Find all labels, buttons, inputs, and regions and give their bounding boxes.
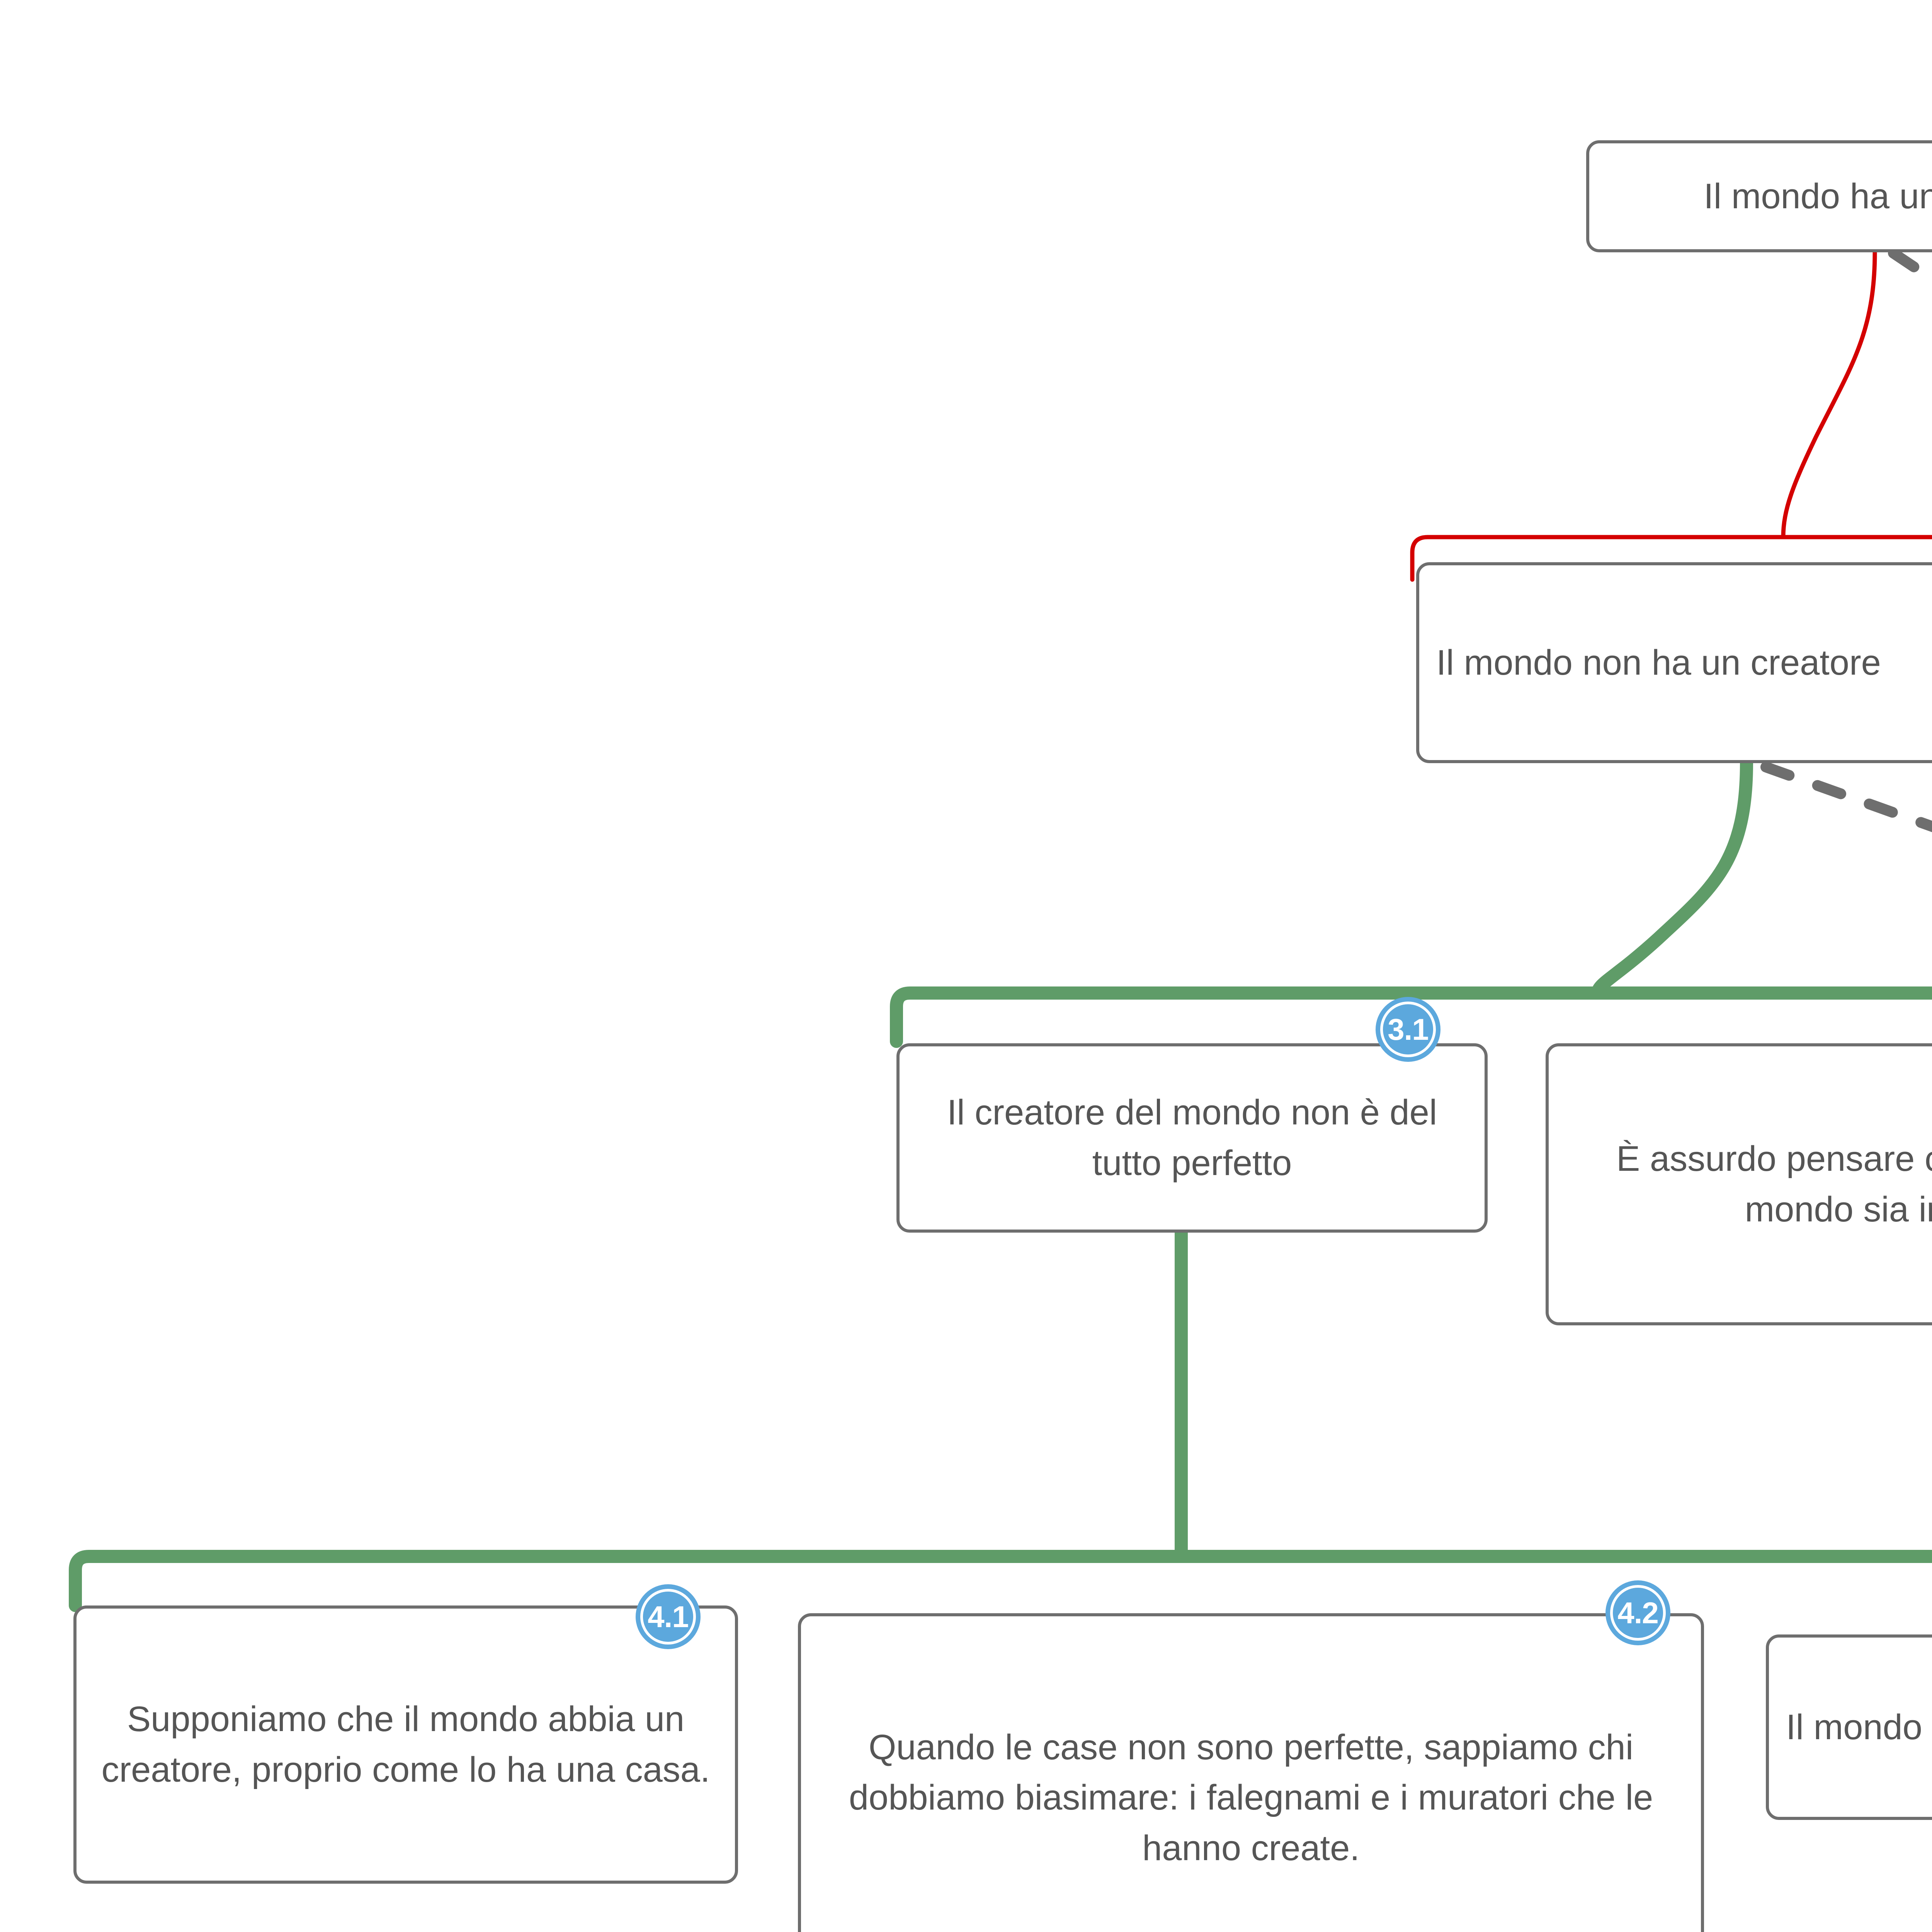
connector-role-link-antitesi: [1893, 253, 1932, 500]
node-2-1-text: Il mondo non ha un creatore: [1419, 638, 1932, 688]
node-4-3-text: Il mondo non è perfetto: [1769, 1702, 1932, 1753]
node-badge-4-2-label: 4.2: [1617, 1598, 1658, 1628]
node-badge-4-2[interactable]: 4.2: [1605, 1580, 1670, 1645]
connector-objection-1-1-to-2-1: [1783, 252, 1875, 537]
node-badge-4-1[interactable]: 4.1: [636, 1584, 701, 1649]
node-4-2[interactable]: Quando le case non sono perfette, sappia…: [798, 1613, 1704, 1932]
node-badge-3-1-label: 3.1: [1388, 1014, 1428, 1044]
node-badge-4-1-label: 4.1: [648, 1602, 688, 1632]
node-3-1-text: Il creatore del mondo non è del tutto pe…: [900, 1087, 1485, 1188]
connector-role-link-tesi: [1766, 767, 1932, 1005]
node-4-2-text: Quando le case non sono perfette, sappia…: [801, 1722, 1701, 1874]
node-badge-3-1[interactable]: 3.1: [1376, 997, 1440, 1062]
node-3-1[interactable]: Il creatore del mondo non è del tutto pe…: [896, 1043, 1488, 1233]
argument-map-canvas: Il mondo ha un creatore 1.1 Il mondo non…: [0, 0, 1932, 1932]
node-3-2[interactable]: È assurdo pensare che il creatore del mo…: [1546, 1043, 1932, 1325]
node-4-1[interactable]: Supponiamo che il mondo abbia un creator…: [73, 1605, 738, 1884]
node-2-1[interactable]: Il mondo non ha un creatore: [1416, 562, 1932, 763]
node-4-1-text: Supponiamo che il mondo abbia un creator…: [77, 1694, 735, 1795]
node-1-1-text: Il mondo ha un creatore: [1589, 171, 1932, 222]
connector-support-2-1-to-3-x: [1598, 763, 1747, 993]
node-4-3[interactable]: Il mondo non è perfetto: [1766, 1634, 1932, 1820]
node-1-1[interactable]: Il mondo ha un creatore: [1586, 140, 1932, 252]
node-3-2-text: È assurdo pensare che il creatore del mo…: [1549, 1134, 1932, 1235]
